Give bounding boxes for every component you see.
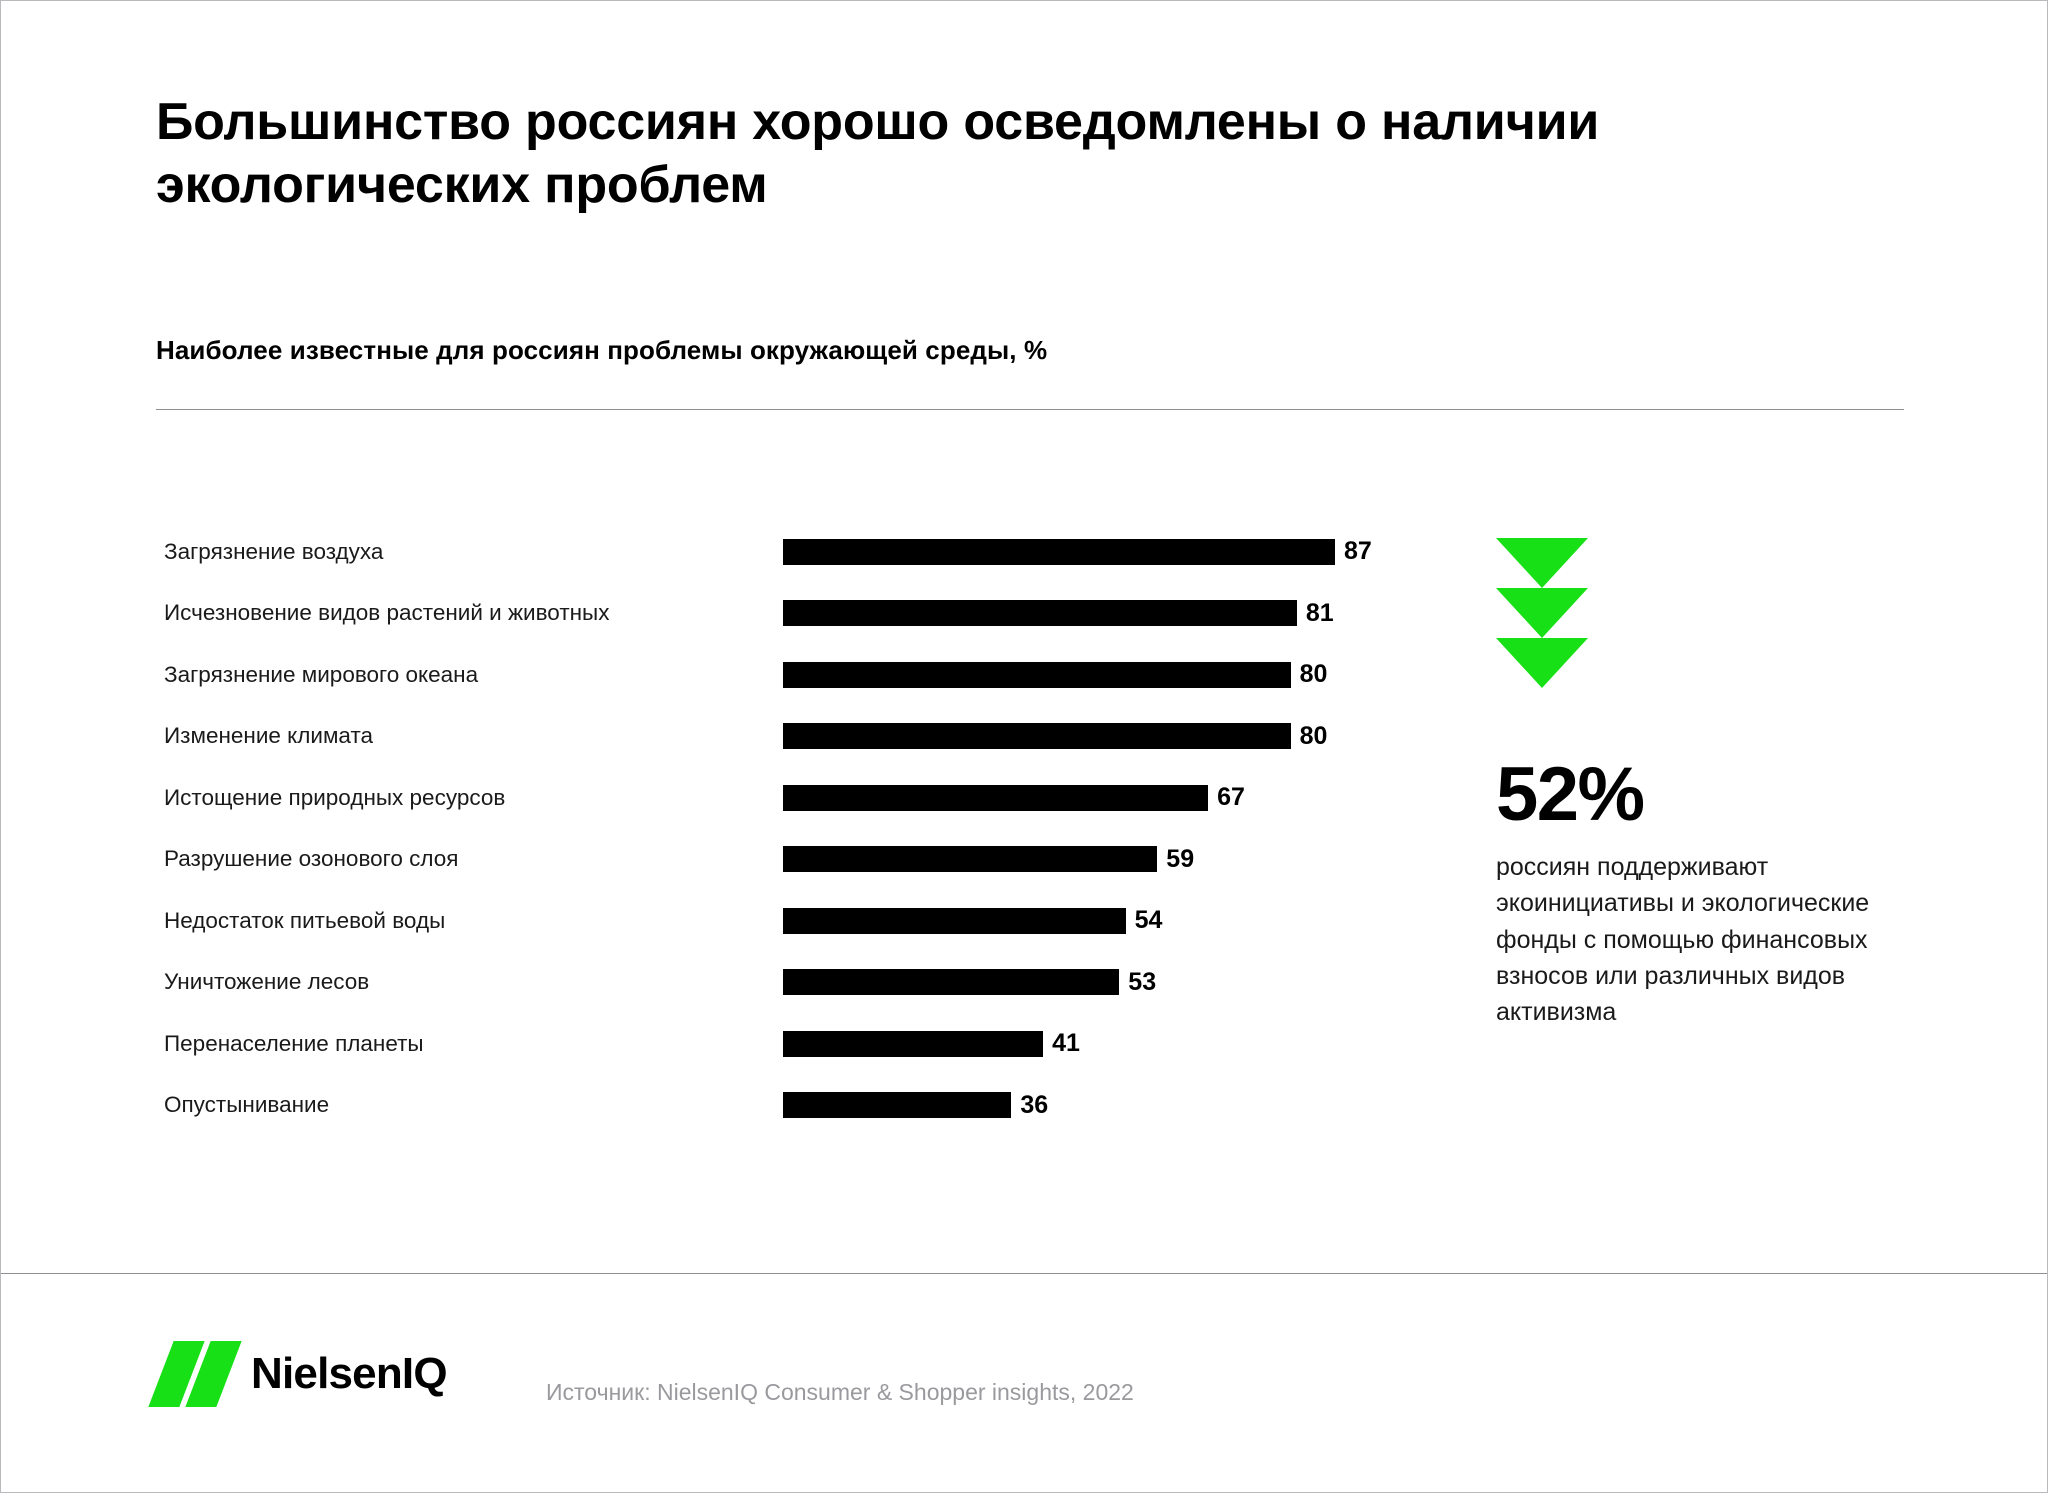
bar — [783, 908, 1126, 934]
triangle-down-icon — [1496, 638, 1588, 688]
bar-track: 80 — [783, 723, 1327, 749]
bar-category-label: Изменение климата — [164, 723, 373, 749]
bar-row: Перенаселение планеты41 — [1, 1013, 1451, 1075]
bar-category-label: Уничтожение лесов — [164, 969, 369, 995]
bar-track: 80 — [783, 662, 1327, 688]
chart-subtitle: Наиболее известные для россиян проблемы … — [156, 334, 1916, 368]
bar-category-label: Недостаток питьевой воды — [164, 908, 445, 934]
bar-track: 59 — [783, 846, 1194, 872]
bar — [783, 1031, 1043, 1057]
nielseniq-logo: NielsenIQ — [153, 1338, 447, 1410]
bar-row: Разрушение озонового слоя59 — [1, 829, 1451, 891]
nielseniq-n-mark-icon — [153, 1341, 237, 1407]
bar-track: 81 — [783, 600, 1334, 626]
bar-value-label: 81 — [1306, 601, 1334, 626]
bar-track: 41 — [783, 1031, 1080, 1057]
bar-track: 67 — [783, 785, 1245, 811]
bar-value-label: 36 — [1020, 1093, 1048, 1118]
bar-track: 87 — [783, 539, 1372, 565]
bar-category-label: Перенаселение планеты — [164, 1031, 424, 1057]
stat-description: россиян поддерживают экоинициативы и эко… — [1496, 849, 1926, 1030]
bar-row: Недостаток питьевой воды54 — [1, 890, 1451, 952]
bar — [783, 600, 1297, 626]
triangle-down-icon — [1496, 588, 1588, 638]
source-note: Источник: NielsenIQ Consumer & Shopper i… — [546, 1381, 1134, 1404]
bar-row: Загрязнение воздуха87 — [1, 521, 1451, 583]
bar-category-label: Загрязнение воздуха — [164, 539, 383, 565]
logo-wordmark: NielsenIQ — [251, 1352, 447, 1396]
bar-row: Загрязнение мирового океана80 — [1, 644, 1451, 706]
bar-row: Исчезновение видов растений и животных81 — [1, 583, 1451, 645]
bar-row: Изменение климата80 — [1, 706, 1451, 768]
bar — [783, 539, 1335, 565]
bar-category-label: Загрязнение мирового океана — [164, 662, 478, 688]
bar-track: 54 — [783, 908, 1162, 934]
bar-row: Уничтожение лесов53 — [1, 952, 1451, 1014]
bar-category-label: Опустынивание — [164, 1092, 329, 1118]
bar-value-label: 54 — [1135, 908, 1163, 933]
bar-value-label: 53 — [1128, 970, 1156, 995]
bar-value-label: 80 — [1300, 724, 1328, 749]
bar-category-label: Исчезновение видов растений и животных — [164, 600, 609, 626]
bar-track: 53 — [783, 969, 1156, 995]
bar-value-label: 87 — [1344, 539, 1372, 564]
infographic-canvas: Большинство россиян хорошо осведомлены о… — [0, 0, 2048, 1493]
bar — [783, 785, 1208, 811]
bar-category-label: Разрушение озонового слоя — [164, 846, 458, 872]
header-divider — [156, 409, 1904, 410]
bar-row: Истощение природных ресурсов67 — [1, 767, 1451, 829]
bar-value-label: 59 — [1166, 847, 1194, 872]
bar — [783, 846, 1157, 872]
bar — [783, 1092, 1011, 1118]
bar — [783, 723, 1291, 749]
page-title: Большинство россиян хорошо осведомлены о… — [156, 91, 1946, 218]
arrow-group — [1496, 538, 1592, 688]
bar-category-label: Истощение природных ресурсов — [164, 785, 505, 811]
bar — [783, 662, 1291, 688]
bar-value-label: 41 — [1052, 1031, 1080, 1056]
footer-divider — [1, 1273, 2047, 1274]
stat-number: 52% — [1496, 757, 1644, 833]
bar-chart: Загрязнение воздуха87Исчезновение видов … — [1, 521, 1451, 1136]
bar-track: 36 — [783, 1092, 1048, 1118]
triangle-down-icon — [1496, 538, 1588, 588]
bar-row: Опустынивание36 — [1, 1075, 1451, 1137]
bar — [783, 969, 1119, 995]
bar-value-label: 67 — [1217, 785, 1245, 810]
bar-value-label: 80 — [1300, 662, 1328, 687]
